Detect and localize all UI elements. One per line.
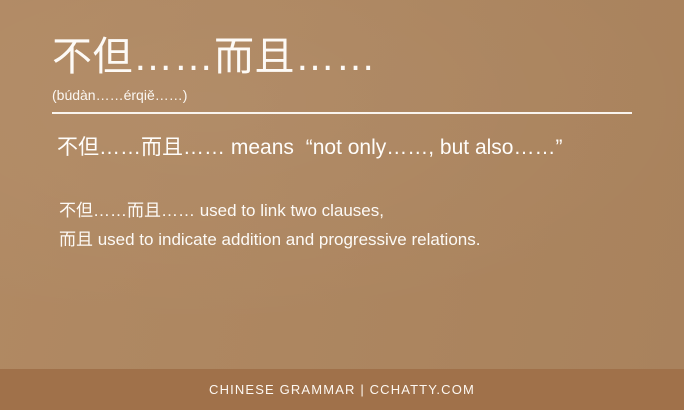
- definition-line: 不但……而且…… means “not only……, but also……”: [57, 133, 562, 163]
- definition-verb: means: [231, 136, 294, 159]
- grammar-card: 不但……而且…… (búdàn……érqiě……) 不但……而且…… means…: [0, 0, 684, 410]
- horizontal-divider: [52, 112, 632, 114]
- definition-term: 不但……而且……: [57, 136, 225, 159]
- headword-title: 不但……而且……: [52, 34, 376, 80]
- footer-attribution: CHINESE GRAMMAR | CCHATTY.COM: [209, 382, 475, 397]
- pinyin-romanization: (búdàn……érqiě……): [52, 86, 187, 104]
- usage-line: 不但……而且…… used to link two clauses,: [59, 196, 480, 225]
- definition-gloss: “not only……, but also……”: [306, 136, 563, 159]
- usage-notes: 不但……而且…… used to link two clauses, 而且 us…: [59, 196, 480, 254]
- usage-line: 而且 used to indicate addition and progres…: [59, 225, 480, 254]
- footer-bar: CHINESE GRAMMAR | CCHATTY.COM: [0, 369, 684, 410]
